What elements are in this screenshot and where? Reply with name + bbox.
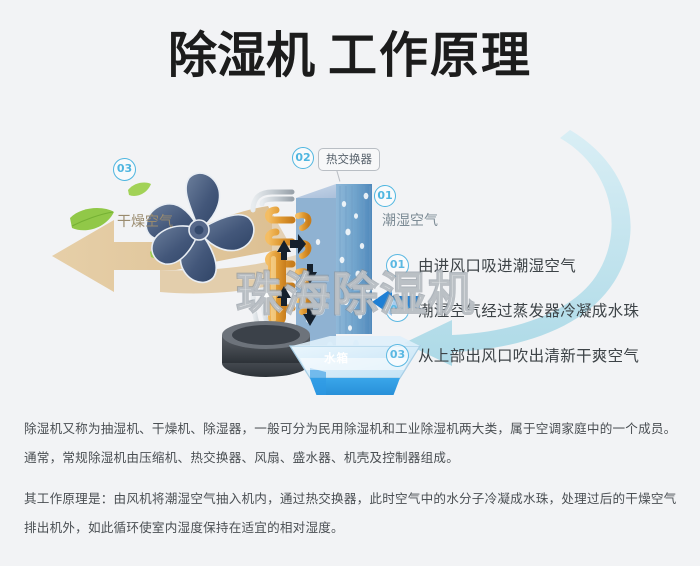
page-title: 除湿机工作原理 [0,28,700,84]
label-humid-air: 潮湿空气 [382,210,438,230]
paragraph-1-line-1: 除湿机又称为抽湿机、干燥机、除湿器，一般可分为民用除湿机和工业除湿机两大类，属于… [24,418,680,441]
list-item: 01 由进风口吸进潮湿空气 [386,248,686,282]
paragraph-1-line-2: 通常，常规除湿机由压缩机、热交换器、风扇、盛水器、机壳及控制器组成。 [24,447,680,470]
list-item: 03 从上部出风口吹出清新干爽空气 [386,338,686,372]
step-text: 由进风口吸进潮湿空气 [418,254,576,276]
step-number: 02 [386,299,409,322]
body-copy: 除湿机又称为抽湿机、干燥机、除湿器，一般可分为民用除湿机和工业除湿机两大类，属于… [24,418,680,546]
title-part-b: 工作原理 [328,29,532,83]
label-water-tank: 水箱 [324,350,349,366]
paragraph-2-line-1: 其工作原理是：由风机将潮湿空气抽入机内，通过热交换器，此时空气中的水分子冷凝成水… [24,488,680,511]
paragraph-2-line-2: 排出机外，如此循环使室内湿度保持在适宜的相对湿度。 [24,517,680,540]
infographic-page: 除湿机工作原理 [0,0,700,566]
step-number: 03 [386,344,409,367]
step-text: 从上部出风口吹出清新干爽空气 [418,344,639,366]
label-heat-exchanger: 热交换器 [318,148,380,171]
step-text: 潮湿空气经过蒸发器冷凝成水珠 [418,299,639,321]
list-item: 02 潮湿空气经过蒸发器冷凝成水珠 [386,293,686,327]
badge-heat-exchanger: 02 [292,147,314,169]
badge-dry-air: 03 [113,158,136,181]
label-dry-air: 干燥空气 [117,211,173,231]
step-number: 01 [386,254,409,277]
steps-list: 01 由进风口吸进潮湿空气 02 潮湿空气经过蒸发器冷凝成水珠 03 从上部出风… [386,248,686,383]
title-part-a: 除湿机 [168,29,315,83]
badge-humid-air: 01 [374,185,396,207]
